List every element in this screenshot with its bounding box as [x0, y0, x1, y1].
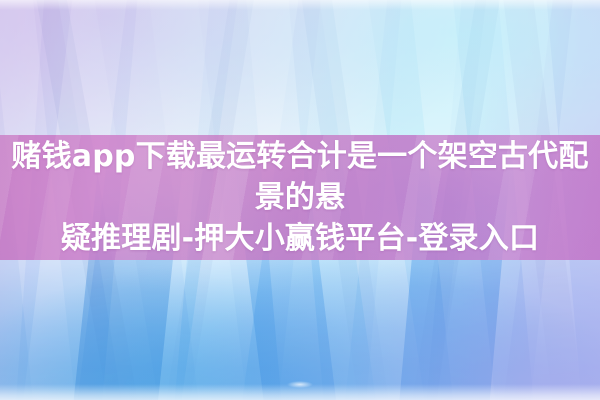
headline-line-1: 赌钱app下载最运转合计是一个架空古代配景的悬 [0, 136, 600, 218]
headline-line-2: 疑推理剧-押大小赢钱平台-登录入口 [0, 218, 600, 259]
bottom-light-speck [287, 381, 313, 388]
top-glow-strip [0, 0, 600, 10]
headline-band: 赌钱app下载最运转合计是一个架空古代配景的悬 疑推理剧-押大小赢钱平台-登录入… [0, 135, 600, 260]
promo-banner: 赌钱app下载最运转合计是一个架空古代配景的悬 疑推理剧-押大小赢钱平台-登录入… [0, 0, 600, 400]
